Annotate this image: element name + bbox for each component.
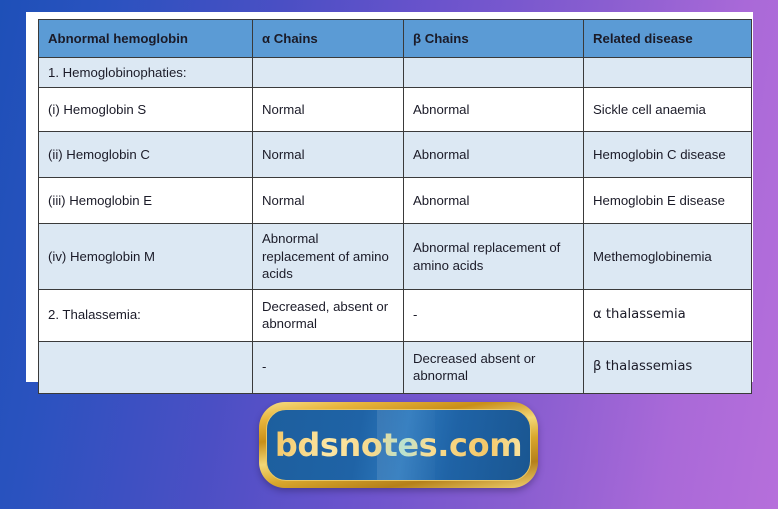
- cell-beta-chain: Abnormal: [404, 132, 584, 178]
- cell-hemoglobin-m: (iv) Hemoglobin M: [39, 224, 253, 289]
- brand-badge[interactable]: bdsnotes.com: [259, 402, 538, 488]
- cell-empty: [584, 58, 752, 88]
- cell-alpha-thalassemia: α thalassemia: [584, 289, 752, 341]
- cell-beta-chain: Decreased absent or abnormal: [404, 341, 584, 393]
- table-row: 1. Hemoglobinophaties:: [39, 58, 752, 88]
- abnormal-hemoglobin-table: Abnormal hemoglobin α Chains β Chains Re…: [38, 19, 752, 394]
- cell-related-disease: Sickle cell anaemia: [584, 88, 752, 132]
- cell-beta-thalassemias: β thalassemias: [584, 341, 752, 393]
- cell-alpha-chain: Normal: [253, 178, 404, 224]
- cell-hemoglobin-c: (ii) Hemoglobin C: [39, 132, 253, 178]
- table-frame: Abnormal hemoglobin α Chains β Chains Re…: [26, 12, 753, 382]
- table-row: 2. Thalassemia: Decreased, absent or abn…: [39, 289, 752, 341]
- table-row: - Decreased absent or abnormal β thalass…: [39, 341, 752, 393]
- table-row: (ii) Hemoglobin C Normal Abnormal Hemogl…: [39, 132, 752, 178]
- cell-hemoglobinopathies-label: 1. Hemoglobinophaties:: [39, 58, 253, 88]
- cell-beta-chain: Abnormal: [404, 88, 584, 132]
- cell-related-disease: Hemoglobin E disease: [584, 178, 752, 224]
- table-row: (iv) Hemoglobin M Abnormal replacement o…: [39, 224, 752, 289]
- cell-empty: [404, 58, 584, 88]
- cell-beta-chain: Abnormal: [404, 178, 584, 224]
- brand-badge-label: bdsnotes.com: [275, 426, 522, 464]
- table-header: Abnormal hemoglobin α Chains β Chains Re…: [39, 20, 752, 58]
- cell-alpha-chain: -: [253, 341, 404, 393]
- table-row: (i) Hemoglobin S Normal Abnormal Sickle …: [39, 88, 752, 132]
- cell-beta-chain: -: [404, 289, 584, 341]
- column-header-beta-chains: β Chains: [404, 20, 584, 58]
- cell-empty: [253, 58, 404, 88]
- table-header-row: Abnormal hemoglobin α Chains β Chains Re…: [39, 20, 752, 58]
- cell-alpha-chain: Normal: [253, 88, 404, 132]
- table-row: (iii) Hemoglobin E Normal Abnormal Hemog…: [39, 178, 752, 224]
- cell-alpha-chain: Decreased, absent or abnormal: [253, 289, 404, 341]
- brand-badge-inner: bdsnotes.com: [266, 409, 531, 481]
- column-header-related-disease: Related disease: [584, 20, 752, 58]
- cell-hemoglobin-s: (i) Hemoglobin S: [39, 88, 253, 132]
- cell-thalassemia-label: 2. Thalassemia:: [39, 289, 253, 341]
- table-body: 1. Hemoglobinophaties: (i) Hemoglobin S …: [39, 58, 752, 394]
- cell-empty: [39, 341, 253, 393]
- cell-alpha-chain: Abnormal replacement of amino acids: [253, 224, 404, 289]
- column-header-abnormal-hemoglobin: Abnormal hemoglobin: [39, 20, 253, 58]
- cell-related-disease: Hemoglobin C disease: [584, 132, 752, 178]
- cell-related-disease: Methemoglobinemia: [584, 224, 752, 289]
- cell-hemoglobin-e: (iii) Hemoglobin E: [39, 178, 253, 224]
- cell-alpha-chain: Normal: [253, 132, 404, 178]
- cell-beta-chain: Abnormal replacement of amino acids: [404, 224, 584, 289]
- column-header-alpha-chains: α Chains: [253, 20, 404, 58]
